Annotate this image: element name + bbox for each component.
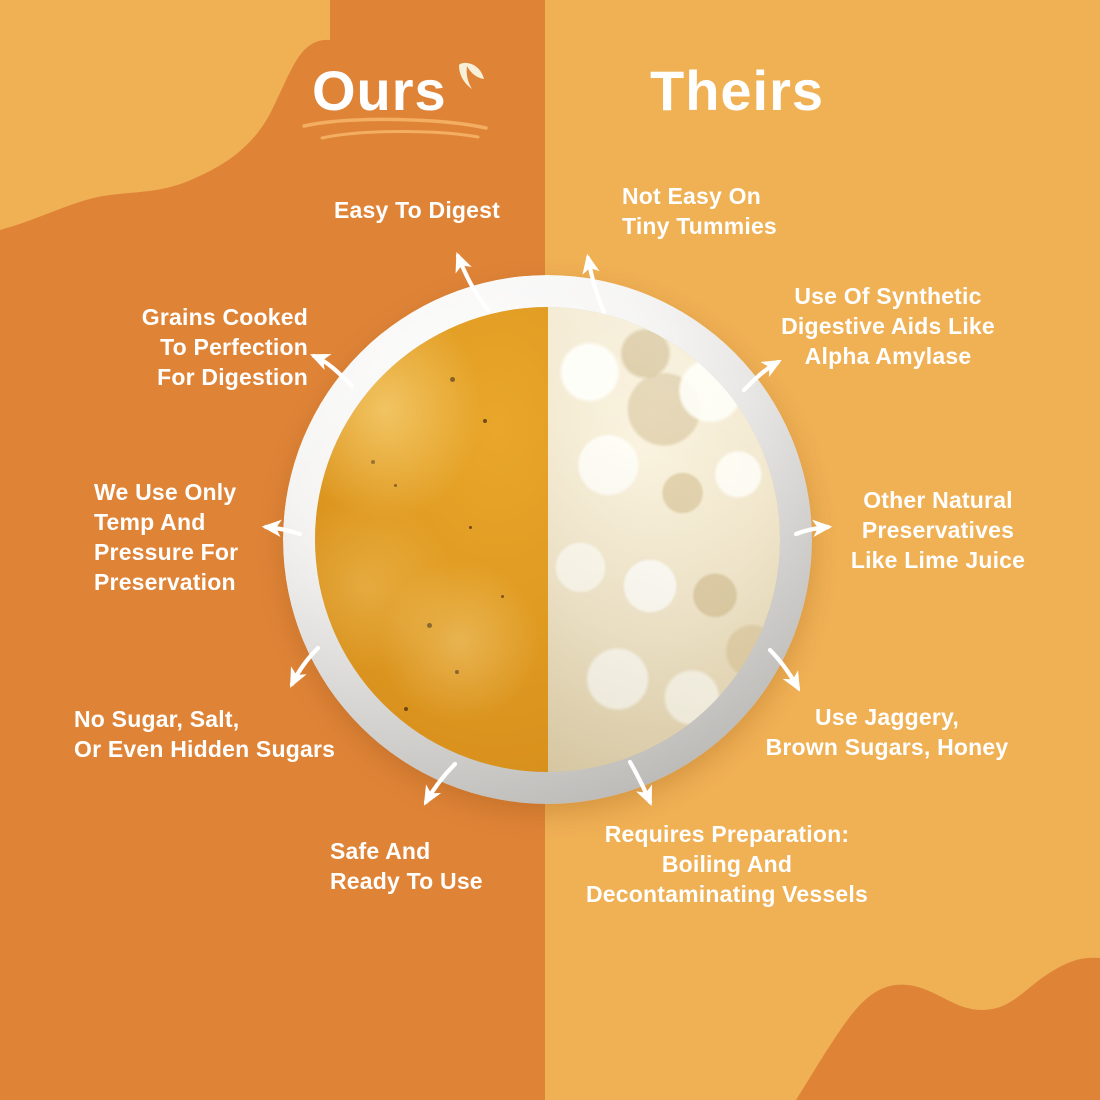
label-ours-no-sugar-salt: No Sugar, Salt, Or Even Hidden Sugars (74, 705, 362, 765)
food-ours-puree (315, 307, 548, 772)
heading-theirs: Theirs (650, 58, 824, 123)
label-ours-easy-to-digest: Easy To Digest (316, 196, 500, 226)
label-ours-grains-cooked: Grains Cooked To Perfection For Digestio… (126, 303, 308, 393)
label-theirs-natural-preservatives: Other Natural Preservatives Like Lime Ju… (850, 486, 1026, 576)
leaf-icon (455, 62, 489, 92)
label-ours-safe-ready-to-use: Safe And Ready To Use (330, 837, 500, 897)
label-theirs-jaggery-brown-sugars: Use Jaggery, Brown Sugars, Honey (752, 703, 1022, 763)
underline-swoosh-icon (300, 116, 490, 142)
infographic-canvas: Ours Theirs Easy To Digest Gr (0, 0, 1100, 1100)
heading-ours: Ours (312, 58, 447, 123)
label-theirs-requires-preparation: Requires Preparation: Boiling And Decont… (572, 820, 882, 910)
label-theirs-synthetic-digestive-aids: Use Of Synthetic Digestive Aids Like Alp… (772, 282, 1004, 372)
food-theirs-porridge (548, 307, 780, 772)
label-theirs-not-easy-tiny-tummies: Not Easy On Tiny Tummies (622, 182, 814, 242)
split-bowl-image (283, 275, 812, 804)
bowl-interior (315, 307, 780, 772)
label-ours-temp-pressure-preservation: We Use Only Temp And Pressure For Preser… (94, 478, 260, 598)
